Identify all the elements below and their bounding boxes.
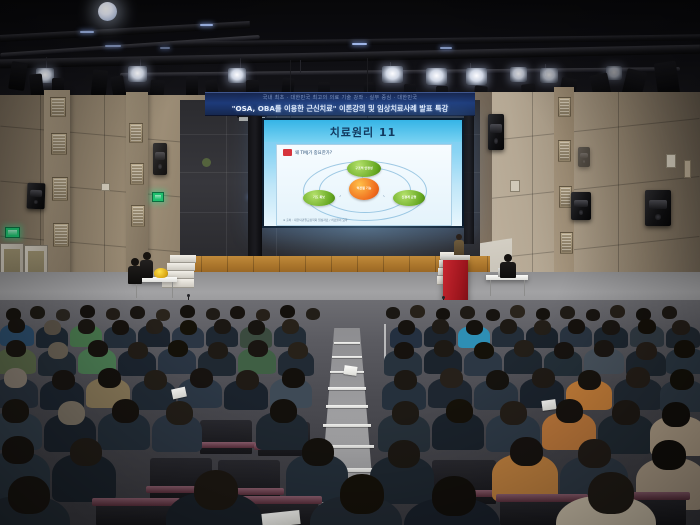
audience-head xyxy=(410,305,425,318)
audience-head xyxy=(206,308,220,320)
audience-head xyxy=(52,370,75,390)
wall-vent-grille xyxy=(53,223,69,247)
audience-head xyxy=(432,319,449,334)
aisle-step-nosing[interactable] xyxy=(326,405,368,408)
microphone-head xyxy=(187,294,190,297)
audience-head xyxy=(230,306,245,319)
table-leg xyxy=(490,280,491,296)
audience-head xyxy=(128,342,148,359)
seat-trim xyxy=(92,498,180,506)
audience-head xyxy=(638,319,656,334)
audience-head xyxy=(510,305,525,318)
audience-head xyxy=(168,340,188,357)
stage-spotlight xyxy=(540,68,558,83)
wall-vent-grille xyxy=(130,163,144,185)
audience-head xyxy=(386,307,400,319)
ceiling-fixture xyxy=(8,61,28,91)
event-banner: 국내 최초 · 대한민국 최고의 의료 기술 강좌 · 실무 중심 · 대한민국… xyxy=(205,92,475,116)
diagram-node-top: 구조적 안정성 xyxy=(347,160,381,177)
ceiling-strip-light xyxy=(105,45,121,47)
stage-spotlight xyxy=(382,66,403,83)
lamp-hanger xyxy=(300,60,301,74)
operator-head xyxy=(504,254,512,262)
stage-spotlight xyxy=(466,68,487,85)
audience-head xyxy=(652,440,686,470)
slide-heading-text: 왜 TMJ가 중요한가? xyxy=(295,150,332,156)
audience-head xyxy=(208,342,228,359)
audience-head xyxy=(432,476,476,516)
audience-head xyxy=(392,401,419,425)
wall-vent-grille xyxy=(50,97,66,117)
audience-head xyxy=(180,305,195,318)
exit-sign-icon xyxy=(152,192,164,202)
audience-head xyxy=(236,370,259,390)
wall-speaker xyxy=(488,114,504,150)
audience-head xyxy=(280,305,295,318)
aisle-step-nosing[interactable] xyxy=(332,356,362,358)
wall-tile-seam xyxy=(471,118,700,143)
audience-head xyxy=(146,319,163,334)
audience-head xyxy=(612,400,640,425)
audience-head xyxy=(8,476,50,514)
audience-head xyxy=(626,367,650,388)
audience-head xyxy=(394,342,414,359)
diagram-node-right: 신경계 균형 xyxy=(393,190,425,206)
audience-head-bald xyxy=(4,368,27,388)
audience-head xyxy=(302,438,334,466)
audience-head xyxy=(194,470,238,510)
banner-title-text: "OSA, OBA를 이용한 근신치료" 이론강의 및 임상치료사례 발표 특강 xyxy=(205,103,475,115)
wall-speaker xyxy=(645,190,671,226)
table-leg xyxy=(172,282,173,298)
audience-head xyxy=(554,342,574,359)
audience-head xyxy=(662,402,690,427)
audience-head xyxy=(588,472,634,514)
aisle-step-nosing[interactable] xyxy=(334,342,360,344)
aisle-step-nosing[interactable] xyxy=(323,424,371,427)
wall-tile-seam xyxy=(226,100,227,265)
exit-sign-icon xyxy=(5,227,20,238)
slide-body: 왜 TMJ가 중요한가? 구조적 안정성 기도 확보 신경계 균형 턱관절 기능… xyxy=(276,144,452,226)
audience-head xyxy=(282,368,305,388)
audience-head xyxy=(446,399,473,423)
audience-head xyxy=(248,340,268,357)
audience-head xyxy=(534,320,551,335)
audience-head xyxy=(440,368,463,388)
audience-head-bald xyxy=(58,401,85,425)
audience-head xyxy=(486,309,500,321)
diagram-connector: ↑ xyxy=(361,176,363,179)
guest-head xyxy=(143,252,151,260)
wall-vent-grille xyxy=(131,205,145,227)
ceiling-globe-light xyxy=(98,2,117,21)
audience-head xyxy=(610,305,625,318)
seated-operator xyxy=(500,254,516,280)
wall-speaker xyxy=(153,143,167,175)
auditorium-photo: 국내 최초 · 대한민국 최고의 의료 기술 강좌 · 실무 중심 · 대한민국… xyxy=(0,0,700,525)
audience-head xyxy=(560,306,575,319)
operator-torso xyxy=(500,262,516,278)
slide-footnote: ※ 출처 : 대한턱관절교정학회 임상자료 / 치료원리 요약 xyxy=(283,218,348,222)
audience-head xyxy=(578,439,611,468)
audience-head xyxy=(180,320,197,335)
audience-head xyxy=(98,368,121,388)
wall-speaker xyxy=(578,147,590,167)
audience-head xyxy=(190,368,213,388)
audience-head xyxy=(602,320,620,335)
audience-head xyxy=(270,399,297,423)
audience-head xyxy=(594,340,614,357)
stage-curtain xyxy=(464,116,474,244)
audience-head xyxy=(460,306,475,319)
projected-slide: 치료원리 11 왜 TMJ가 중요한가? 구조적 안정성 기도 확보 신경계 균… xyxy=(264,120,462,226)
audience-head xyxy=(248,320,265,335)
audience-head xyxy=(112,320,129,335)
wall-vent-grille xyxy=(129,123,143,143)
audience-head xyxy=(586,309,600,321)
audience-head xyxy=(500,319,517,334)
audience-head xyxy=(44,320,61,335)
wall-indicator-light xyxy=(202,158,211,167)
ceiling-strip-light xyxy=(352,43,367,45)
audience-head xyxy=(510,437,543,466)
diagram-node-left: 기도 확보 xyxy=(303,190,335,206)
slide-heading-row: 왜 TMJ가 중요한가? xyxy=(283,149,332,156)
audience-head xyxy=(636,342,657,360)
stage-curtain xyxy=(248,116,262,256)
seat[interactable] xyxy=(200,420,252,454)
audience-head xyxy=(556,399,583,423)
wall-fixture xyxy=(510,180,520,192)
audience-head xyxy=(2,399,29,423)
audience-head xyxy=(80,305,95,318)
audience-head xyxy=(70,438,102,466)
microphone-head xyxy=(442,296,445,299)
guest-torso xyxy=(140,260,153,278)
handout-paper xyxy=(343,365,357,376)
audience-head xyxy=(130,306,145,319)
podium-top xyxy=(441,255,470,260)
audience-head xyxy=(674,340,695,358)
flower-arrangement xyxy=(154,268,168,278)
stage-spotlight xyxy=(228,68,246,83)
seated-guest xyxy=(140,252,153,282)
ceiling-fixture xyxy=(186,76,198,97)
audience-head xyxy=(78,319,95,334)
audience-head xyxy=(88,340,108,357)
wall-vent-grille xyxy=(558,97,571,117)
audience-head xyxy=(434,340,454,357)
diagram-connector: ↗ xyxy=(339,195,341,198)
wall-vent-grille xyxy=(51,133,67,155)
diagram-connector: ↖ xyxy=(383,195,385,198)
audience-head xyxy=(106,308,120,320)
stage-spotlight xyxy=(606,66,622,80)
aisle-step-nosing[interactable] xyxy=(328,387,366,390)
handout-paper xyxy=(541,399,556,411)
audience-seating xyxy=(0,300,700,525)
audience-head xyxy=(514,340,534,357)
audience-head xyxy=(394,370,417,390)
audience-head xyxy=(8,318,25,333)
audience-head xyxy=(532,368,555,388)
audience-head xyxy=(112,399,139,423)
wall-vent-grille xyxy=(560,232,573,254)
ceiling-fixture xyxy=(91,69,109,96)
banner-subtitle-text: 국내 최초 · 대한민국 최고의 의료 기술 강좌 · 실무 중심 · 대한민국 xyxy=(205,94,475,103)
table-leg xyxy=(524,280,525,296)
wall-speaker xyxy=(27,183,46,210)
step xyxy=(170,255,196,263)
audience-head xyxy=(30,306,45,319)
audience-head xyxy=(340,474,384,514)
step xyxy=(167,263,195,271)
audience-head xyxy=(56,309,70,321)
stage-spotlight xyxy=(426,68,447,85)
podium xyxy=(443,258,468,306)
audience-head xyxy=(214,319,231,334)
audience-head xyxy=(388,440,420,468)
wall-fixture xyxy=(101,183,110,191)
audience-head xyxy=(6,340,26,357)
guest-head xyxy=(131,258,139,266)
audience-head xyxy=(282,319,299,334)
wall-vent-grille xyxy=(558,140,571,162)
red-square-bullet-icon xyxy=(283,149,292,156)
audience-head xyxy=(2,436,34,464)
stage-spotlight xyxy=(128,66,147,82)
ceiling-strip-light xyxy=(440,47,452,49)
audience-head xyxy=(474,342,494,359)
audience-head xyxy=(398,320,415,335)
seat-trim xyxy=(196,442,256,448)
audience-head xyxy=(536,308,550,320)
wall-vent-grille xyxy=(52,177,68,201)
audience-head xyxy=(500,401,527,425)
audience-head xyxy=(670,369,694,390)
audience-head xyxy=(48,342,68,359)
audience-head xyxy=(466,320,483,335)
audience-head xyxy=(578,370,601,390)
audience-head xyxy=(144,370,167,390)
projection-screen: 치료원리 11 왜 TMJ가 중요한가? 구조적 안정성 기도 확보 신경계 균… xyxy=(262,118,464,228)
audience-head xyxy=(288,342,308,359)
audience-head xyxy=(672,320,690,335)
audience-head xyxy=(306,308,320,320)
audience-head xyxy=(568,319,585,334)
audience-head xyxy=(486,370,509,390)
audience-head xyxy=(166,401,193,425)
wall-fixture xyxy=(684,160,691,178)
diagram-node-center: 턱관절 기능 xyxy=(349,178,379,200)
ceiling-strip-light xyxy=(80,31,94,33)
audience-head xyxy=(662,306,677,319)
wall-fixture xyxy=(666,154,676,168)
ceiling-strip-light xyxy=(200,24,213,26)
ceiling-strip-light xyxy=(160,47,170,49)
stage-spotlight xyxy=(510,67,527,82)
wall-speaker xyxy=(571,192,591,220)
slide-title: 치료원리 11 xyxy=(264,124,462,140)
